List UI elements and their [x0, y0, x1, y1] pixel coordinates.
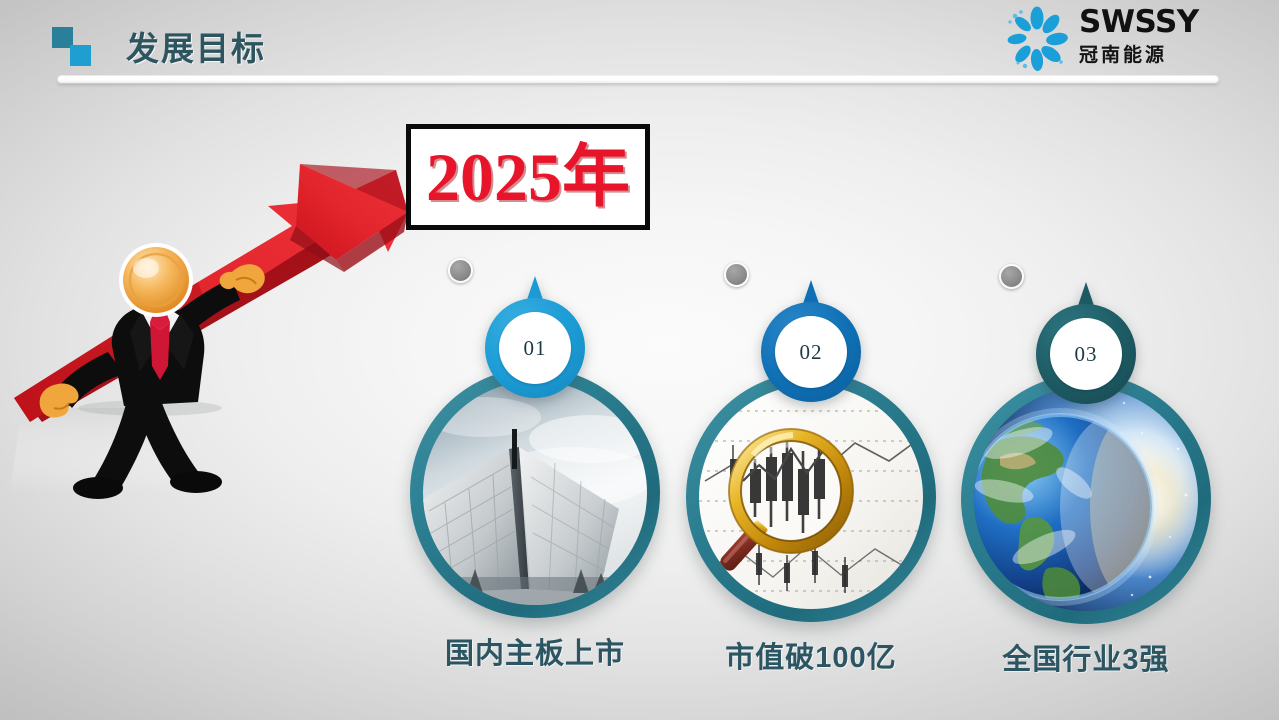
goal-caption-01: 国内主板上市: [380, 630, 690, 672]
slide-header: 发展目标: [0, 0, 1279, 96]
goal-droplet-01: 01: [485, 276, 585, 398]
company-logo: SWSSY 冠南能源: [1003, 4, 1253, 74]
decorative-squares-icon: [52, 27, 100, 67]
goal-item-01[interactable]: 01 国内主板上市: [410, 258, 660, 678]
goal-photo-ring-01: [410, 368, 660, 618]
goal-photo-ring-03: [961, 374, 1211, 624]
goal-number-badge-01: 01: [499, 312, 571, 384]
goal-number-03: 03: [1075, 342, 1098, 367]
logo-wordmark: SWSSY: [1079, 6, 1254, 39]
year-callout-text: 2025年: [426, 143, 630, 211]
goal-item-02[interactable]: 02 市值破100亿: [686, 262, 936, 682]
logo-subtitle: 冠南能源: [1079, 40, 1254, 67]
page-title: 发展目标: [126, 22, 266, 70]
goal-photo-02: [699, 385, 923, 609]
goal-number-badge-03: 03: [1050, 318, 1122, 390]
logo-text-block: SWSSY 冠南能源: [1079, 6, 1254, 67]
goal-number-badge-02: 02: [775, 316, 847, 388]
goal-number-02: 02: [800, 340, 823, 365]
goal-photo-ring-02: [686, 372, 936, 622]
goal-pin-03: [999, 264, 1024, 289]
square-lower-icon: [70, 45, 91, 66]
goal-pin-02: [724, 262, 749, 287]
flower-petals-icon: [1003, 6, 1071, 72]
goal-caption-02: 市值破100亿: [656, 634, 966, 676]
goal-caption-03: 全国行业3强: [931, 636, 1241, 678]
goal-item-03[interactable]: 03 全国行业3强: [961, 264, 1211, 684]
goal-number-01: 01: [524, 336, 547, 361]
goal-photo-01: [423, 381, 647, 605]
goal-photo-03: [974, 387, 1198, 611]
goal-pin-01: [448, 258, 473, 283]
header-divider: [58, 76, 1218, 83]
goal-droplet-03: 03: [1036, 282, 1136, 404]
slide-canvas: 发展目标: [0, 0, 1279, 720]
goal-droplet-02: 02: [761, 280, 861, 402]
businessman-arrow-illustration: [0, 140, 420, 520]
year-callout-box: 2025年: [406, 124, 650, 230]
